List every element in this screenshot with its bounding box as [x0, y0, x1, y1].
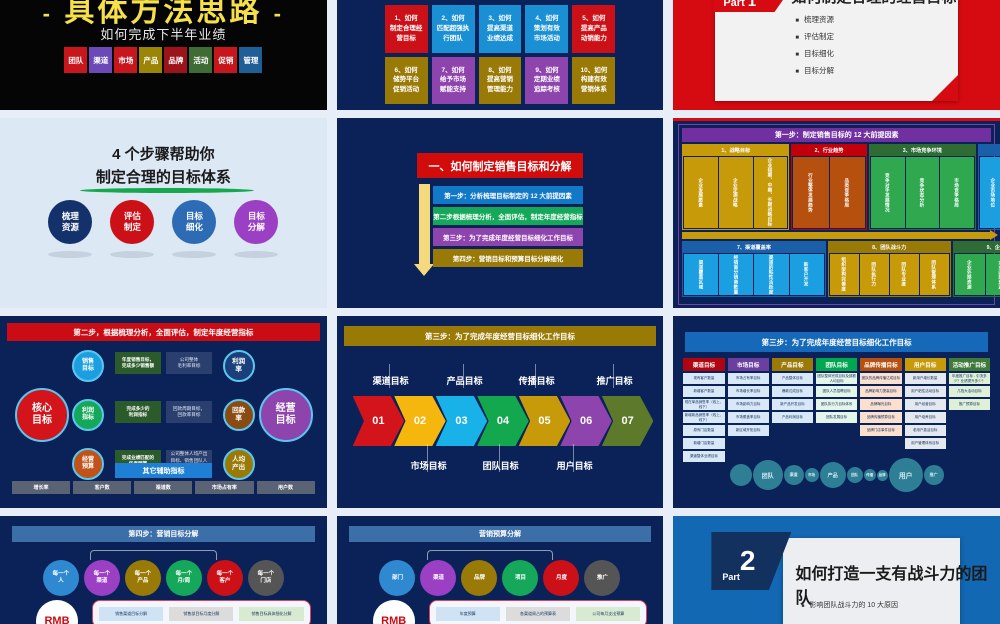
column-cell[interactable]: 老用户激活目标 — [905, 425, 946, 436]
rmb-badge: RMB — [36, 600, 78, 624]
breakdown-circle[interactable]: 品牌 — [461, 560, 497, 596]
factor-cell[interactable]: 经销商分销商数量 — [719, 254, 753, 295]
heading-line-2: 制定合理的目标体系 — [0, 167, 327, 190]
connector-tick — [613, 364, 614, 388]
column-cell[interactable]: 团队整体完成目标及部额人均目标 — [816, 373, 857, 384]
target-breakdown-title: 第四步：营销目标分解 — [12, 526, 315, 542]
factor-cell[interactable]: 竞争状态分析 — [906, 157, 940, 228]
part-one-bullet-item: 梳理资源 — [795, 14, 834, 25]
work-targets-columns: 渠道目标现有客户数量新增客户数量现在单品销售率（线上、线下）新增新品销售率（线上… — [683, 358, 990, 462]
target-column[interactable]: 渠道目标现有客户数量新增客户数量现在单品销售率（线上、线下）新增新品销售率（线上… — [683, 358, 724, 462]
column-cell[interactable]: 品牌门店事件目标 — [860, 425, 901, 436]
connector-tick — [427, 444, 428, 472]
panel-item[interactable]: 各渠道周占的预算表 — [506, 607, 570, 621]
column-cell[interactable]: 团队执行力目标体系 — [816, 399, 857, 410]
heading-line-1: 4 个步骤帮助你 — [0, 144, 327, 167]
slide-thumbnail-twelve-factors[interactable]: 第一步：制定销售目标的 12 大前提因素 1、战略目标企业发展愿景企业定测战略企… — [673, 118, 1000, 308]
question-box[interactable]: 4、如何策划有效市场活动 — [525, 5, 568, 53]
column-cell[interactable]: 用户经营目标 — [905, 399, 946, 410]
breakdown-circle[interactable]: 每一个渠道 — [84, 560, 120, 596]
target-column[interactable]: 活动推广目标年度推广目标 - 引流多少？业绩提升多少？几档大活动目标推广预算目标 — [949, 358, 990, 462]
column-header: 用户目标 — [905, 358, 946, 371]
category-bubble[interactable]: 渠道 — [784, 465, 804, 485]
target-column[interactable]: 市场目标市场占有率目标市场增长率目标市场影响力目标市场覆盖率目标新区域开拓目标 — [728, 358, 769, 462]
circle-shadow-row — [0, 251, 327, 258]
arrow-label-bottom: 市场目标 — [411, 459, 447, 472]
factor-group-header: 7、渠道覆盖率 — [683, 242, 824, 253]
right-metric-circle[interactable]: 人均产出 — [223, 448, 255, 480]
dash-right: - — [274, 1, 284, 26]
factor-cell[interactable]: 团队执行力 — [860, 254, 889, 295]
brace-connector — [427, 550, 554, 560]
step-row[interactable]: 第二步根据梳理分析，全面评估，制定年度经营指标 — [433, 207, 584, 225]
question-box[interactable]: 9、如何定期业绩追踪考核 — [525, 57, 568, 105]
factor-cell[interactable]: 团队管理体系 — [920, 254, 949, 295]
factor-cell[interactable]: 企业市场地位 — [980, 157, 1000, 228]
column-cell[interactable]: 新区域开拓目标 — [728, 425, 769, 436]
factor-group[interactable]: 3、市场竞争环境竞争对手发展情况竞争状态分析市场竞争格局 — [869, 144, 976, 230]
target-column[interactable]: 品牌传播目标团队的品牌传播达成目标品牌影响力提高目标品牌曝光目标品牌传播预算目标… — [860, 358, 901, 462]
factor-cell[interactable]: 团队专业度 — [890, 254, 919, 295]
factors-band-row2: 7、渠道覆盖率渠道覆盖区域经销商分销商数量渠道的粘性活跃度新客户开发8、团队战斗… — [682, 241, 991, 297]
column-cell[interactable]: 团队的品牌传播达成目标 — [860, 373, 901, 384]
brand-chip[interactable]: 促销 — [214, 47, 237, 73]
column-cell[interactable]: 爆款达成目标 — [772, 386, 813, 397]
factor-group-header: 3、市场竞争环境 — [870, 145, 975, 156]
breakdown-circle[interactable]: 部门 — [379, 560, 415, 596]
right-metric-circle[interactable]: 利润率 — [223, 350, 255, 382]
slide-thumbnail-four-steps[interactable]: 4 个步骤帮助你 制定合理的目标体系 梳理资源评估制定目标细化目标分解 — [0, 118, 327, 308]
column-cell[interactable]: 团队发展目标 — [816, 412, 857, 423]
breakdown-circle[interactable]: 每一个客户 — [207, 560, 243, 596]
column-cell[interactable]: 市场影响力目标 — [728, 399, 769, 410]
footer-indicator[interactable]: 渠道数 — [134, 481, 192, 494]
part-one-heading: 如何制定合理的经营目标 — [791, 0, 956, 7]
slide-thumbnail-part-two[interactable]: Part 2 如何打造一支有战斗力的团队 影响团队战斗力的 10 大原因 — [673, 516, 1000, 624]
brand-chip[interactable]: 管理 — [239, 47, 262, 73]
factor-group[interactable]: 4、市场地位企业市场地位市场占有率市场影响力 — [978, 144, 1000, 230]
step-circle[interactable]: 目标分解 — [234, 200, 278, 244]
step-row[interactable]: 第一步：分析梳理目标制定的 12 大前提因素 — [433, 186, 584, 204]
mid-target-circle[interactable]: 销售目标 — [72, 350, 104, 382]
column-header: 市场目标 — [728, 358, 769, 371]
question-box[interactable]: 10、如何构建有效营销体系 — [572, 57, 615, 105]
column-header: 团队目标 — [816, 358, 857, 371]
part-two-heading: 如何打造一支有战斗力的团队 — [795, 560, 1000, 608]
budget-circle-row: 部门渠道品牌项目月度推广 — [337, 560, 664, 596]
brand-chip[interactable]: 市场 — [114, 47, 137, 73]
column-cell[interactable]: 几档大活动目标 — [949, 386, 990, 397]
budget-breakdown-title: 营销预算分解 — [349, 526, 652, 542]
core-map-title: 第二步，根据梳理分析，全面评估，制定年度经营指标 — [7, 323, 320, 341]
question-box[interactable]: 6、如何储势平台促销活动 — [385, 57, 428, 105]
green-underline — [80, 188, 254, 193]
blue-detail-box: 公司整体毛利率目标 — [166, 352, 212, 374]
green-detail-box: 年度销售目标，完成多少销售额 — [115, 352, 161, 374]
mid-target-circle[interactable]: 经营预算 — [72, 448, 104, 480]
arrow-label-top: 渠道目标 — [373, 374, 409, 387]
column-cell[interactable]: 新产品开发目标 — [772, 399, 813, 410]
circle-shadow — [110, 251, 154, 258]
connector-tick — [389, 364, 390, 388]
factor-cell[interactable]: 竞争对手发展情况 — [871, 157, 905, 228]
target-column[interactable]: 团队目标团队整体完成目标及部额人均目标团队人员招聘目标团队执行力目标体系团队发展… — [816, 358, 857, 462]
slide1-subtitle: 如何完成下半年业绩 — [0, 24, 327, 43]
step-row-list: 第一步：分析梳理目标制定的 12 大前提因素第二步根据梳理分析，全面评估，制定年… — [433, 186, 584, 267]
part-one-bullet-item: 目标细化 — [795, 48, 834, 59]
column-cell[interactable]: 原有门店数量 — [683, 425, 724, 436]
breakdown-circle[interactable]: 项目 — [502, 560, 538, 596]
factor-group[interactable]: 8、团队战斗力组织架构完善度团队执行力团队专业度团队管理体系 — [828, 241, 951, 297]
footer-indicator[interactable]: 用户数 — [257, 481, 315, 494]
part-one-bullet-item: 评估制定 — [795, 31, 834, 42]
factor-group-header: 1、战略目标 — [683, 145, 788, 156]
step-circle[interactable]: 评估制定 — [110, 200, 154, 244]
part-label: Part — [722, 572, 740, 582]
factor-group-header: 4、市场地位 — [979, 145, 1000, 156]
slide-thumbnail-budget-breakdown[interactable]: 营销预算分解 部门渠道品牌项目月度推广 RMB 年度预算各渠道周占的预算表公司每… — [337, 516, 664, 624]
factor-cell[interactable]: 品类竞争格局 — [830, 157, 865, 228]
breakdown-panel: 销售渠道目标分解销售部目标月度分解销售目标具体细化分解 — [92, 600, 311, 624]
part-two-tag: Part 2 — [711, 532, 791, 590]
slide-thumbnail-target-breakdown[interactable]: 第四步：营销目标分解 每一个人每一个渠道每一个产品每一个月/周每一个客户每一个门… — [0, 516, 327, 624]
sales-steps-title: 一、如何制定销售目标和分解 — [417, 153, 584, 178]
brace-connector — [90, 550, 217, 560]
column-cell[interactable]: 用户培养目标 — [905, 412, 946, 423]
column-cell[interactable]: 市场覆盖率目标 — [728, 412, 769, 423]
arrow-label-bottom: 用户目标 — [557, 459, 593, 472]
breakdown-circle[interactable]: 每一个月/周 — [166, 560, 202, 596]
column-header: 活动推广目标 — [949, 358, 990, 371]
column-cell[interactable]: 团队人员招聘目标 — [816, 386, 857, 397]
factor-cell-row: 竞争对手发展情况竞争状态分析市场竞争格局 — [870, 156, 975, 229]
brand-chip[interactable]: 产品 — [139, 47, 162, 73]
circle-shadow — [172, 251, 216, 258]
blue-detail-box: 回款周期目标，回款率目标 — [166, 401, 212, 423]
category-bubble[interactable]: 产品 — [820, 462, 846, 488]
breakdown-circle[interactable]: 渠道 — [420, 560, 456, 596]
factor-cell[interactable]: 企业定测战略 — [719, 157, 753, 228]
arrow-label-top: 产品目标 — [447, 374, 483, 387]
question-box[interactable]: 1、如何制定合理经营目标 — [385, 5, 428, 53]
factor-cell-row: 行业整体发展趋势品类竞争格局 — [792, 156, 866, 229]
aux-indicator-bar: 其它辅助指标 — [115, 463, 212, 478]
chevron-arrow[interactable]: 01 — [353, 396, 405, 446]
question-box-grid: 1、如何制定合理经营目标2、如何匹配超强执行团队3、如何提高渠道业绩达成4、如何… — [385, 5, 616, 104]
part-number: 2 — [740, 547, 756, 575]
column-cell[interactable]: 新增门店数量 — [683, 438, 724, 449]
factor-cell-row: 企业发展愿景企业定测战略企业短期、中期、长期战略目标 — [683, 156, 788, 229]
slide-thumbnail-core-target-map[interactable]: 第二步，根据梳理分析，全面评估，制定年度经营指标 核心目标 经营目标 销售目标利… — [0, 316, 327, 508]
question-box[interactable]: 8、如何提高营销管理能力 — [479, 57, 522, 105]
factor-group[interactable]: 7、渠道覆盖率渠道覆盖区域经销商分销商数量渠道的粘性活跃度新客户开发 — [682, 241, 825, 297]
column-cell[interactable]: 推广预算目标 — [949, 399, 990, 410]
column-cell[interactable]: 现有客户数量 — [683, 373, 724, 384]
category-bubble[interactable] — [730, 464, 752, 486]
factor-cell-row: 企业外部资源企业内部资源企业核心资源 — [954, 253, 1000, 296]
column-cell[interactable]: 市场占有率目标 — [728, 373, 769, 384]
down-arrow-icon — [419, 184, 430, 264]
slide-thumbnail-title[interactable]: - 具体方法思路 - 如何完成下半年业绩 团队渠道市场产品品牌活动促销管理 — [0, 0, 327, 110]
step-circle-row: 梳理资源评估制定目标细化目标分解 — [0, 200, 327, 244]
part-one-bullet-item: 目标分解 — [795, 65, 834, 76]
question-box[interactable]: 3、如何提高渠道业绩达成 — [479, 5, 522, 53]
question-box[interactable]: 7、如何给予市场赋能支持 — [432, 57, 475, 105]
target-column[interactable]: 产品目标产品整体目标爆款达成目标新产品开发目标产品利润目标 — [772, 358, 813, 462]
factors-band-row1: 1、战略目标企业发展愿景企业定测战略企业短期、中期、长期战略目标2、行业趋势行业… — [682, 144, 991, 230]
green-detail-box: 完成多少的利润指标 — [115, 401, 161, 423]
circle-shadow — [234, 251, 278, 258]
circle-shadow — [48, 251, 92, 258]
factors-banner: 第一步：制定销售目标的 12 大前提因素 — [682, 128, 991, 142]
breakdown-circle[interactable]: 每一个门店 — [248, 560, 284, 596]
connector-tick — [463, 364, 464, 388]
brand-chip[interactable]: 渠道 — [89, 47, 112, 73]
footer-indicator[interactable]: 客户数 — [73, 481, 131, 494]
panel-item[interactable]: 销售目标具体细化分解 — [239, 607, 303, 621]
slide-thumbnail-part-one[interactable]: 如何制定合理的经营目标 Part 1 梳理资源评估制定目标细化目标分解 — [673, 0, 1000, 110]
question-box[interactable]: 2、如何匹配超强执行团队 — [432, 5, 475, 53]
column-header: 产品目标 — [772, 358, 813, 371]
factor-cell[interactable]: 组织架构完善度 — [830, 254, 859, 295]
slide-thumbnail-ten-questions[interactable]: 1、如何制定合理经营目标2、如何匹配超强执行团队3、如何提高渠道业绩达成4、如何… — [337, 0, 664, 110]
panel-item[interactable]: 销售渠道目标分解 — [99, 607, 163, 621]
dash-left: - — [43, 1, 53, 26]
category-bubble[interactable]: 团队 — [753, 460, 783, 490]
breakdown-circle[interactable]: 月度 — [543, 560, 579, 596]
factor-cell[interactable]: 渠道的粘性活跃度 — [754, 254, 788, 295]
mid-target-circle[interactable]: 利润指标 — [72, 399, 104, 431]
category-bubble[interactable]: 市场 — [805, 468, 819, 482]
factor-cell[interactable]: 企业短期、中期、长期战略目标 — [754, 157, 788, 228]
column-cell[interactable]: 品牌曝光目标 — [860, 399, 901, 410]
column-cell[interactable]: 品牌传播预算目标 — [860, 412, 901, 423]
brand-chip[interactable]: 活动 — [189, 47, 212, 73]
factor-cell-row: 渠道覆盖区域经销商分销商数量渠道的粘性活跃度新客户开发 — [683, 253, 824, 296]
factor-group-header: 2、行业趋势 — [792, 145, 866, 156]
bubble-chart-row: 团队渠道市场产品团队传播品牌用户推广 — [681, 452, 992, 498]
column-header: 渠道目标 — [683, 358, 724, 371]
panel-item[interactable]: 公司每月支出预算 — [576, 607, 640, 621]
four-steps-heading: 4 个步骤帮助你 制定合理的目标体系 — [0, 144, 327, 189]
breakdown-circle-row: 每一个人每一个渠道每一个产品每一个月/周每一个客户每一个门店 — [0, 560, 327, 596]
rmb-badge: RMB — [373, 600, 415, 624]
connector-tick — [535, 364, 536, 388]
column-cell[interactable]: 用户管理体系目标 — [905, 438, 946, 449]
category-bubble[interactable]: 推广 — [924, 465, 944, 485]
part-number: 1 — [748, 0, 756, 9]
factor-cell[interactable]: 企业外部资源 — [955, 254, 985, 295]
factor-cell[interactable]: 市场竞争格局 — [940, 157, 974, 228]
core-target-circle: 核心目标 — [15, 388, 69, 442]
factor-group-header: 9、企业资源 — [954, 242, 1000, 253]
part-one-bullets: 梳理资源评估制定目标细化目标分解 — [795, 14, 834, 82]
breakdown-circle[interactable]: 每一个产品 — [125, 560, 161, 596]
column-cell[interactable]: 年度推广目标 - 引流多少？业绩提升多少？ — [949, 373, 990, 384]
brand-chip[interactable]: 团队 — [64, 47, 87, 73]
factor-cell[interactable]: 渠道覆盖区域 — [684, 254, 718, 295]
slide-thumbnail-seven-arrows[interactable]: 第三步：为了完成年度经营目标细化工作目标 01020304050607 渠道目标… — [337, 316, 664, 508]
panel-item[interactable]: 销售部目标月度分解 — [169, 607, 233, 621]
factor-cell-row: 组织架构完善度团队执行力团队专业度团队管理体系 — [829, 253, 950, 296]
column-cell[interactable]: 产品整体目标 — [772, 373, 813, 384]
column-cell[interactable]: 现在单品销售率（线上、线下） — [683, 399, 724, 410]
column-cell[interactable]: 市场增长率目标 — [728, 386, 769, 397]
factor-group[interactable]: 1、战略目标企业发展愿景企业定测战略企业短期、中期、长期战略目标 — [682, 144, 789, 230]
column-cell[interactable]: 新用户增长数量 — [905, 373, 946, 384]
column-cell[interactable]: 品牌影响力提高目标 — [860, 386, 901, 397]
factor-cell[interactable]: 行业整体发展趋势 — [793, 157, 828, 228]
factor-group[interactable]: 9、企业资源企业外部资源企业内部资源企业核心资源 — [953, 241, 1000, 297]
column-cell[interactable]: 产品利润目标 — [772, 412, 813, 423]
question-box[interactable]: 5、如何提高产品动销能力 — [572, 5, 615, 53]
category-bubble[interactable]: 传播 — [864, 469, 876, 481]
footer-indicator[interactable]: 市场占有率 — [195, 481, 253, 494]
business-target-circle: 经营目标 — [259, 388, 313, 442]
factor-cell[interactable]: 企业发展愿景 — [684, 157, 718, 228]
right-metric-circle[interactable]: 回款率 — [223, 399, 255, 431]
target-column[interactable]: 用户目标新用户增长数量用户粘性活动目标用户经营目标用户培养目标老用户激活目标用户… — [905, 358, 946, 462]
step-circle[interactable]: 目标细化 — [172, 200, 216, 244]
breakdown-circle[interactable]: 每一个人 — [43, 560, 79, 596]
category-bubble[interactable]: 用户 — [889, 458, 923, 492]
factor-cell-row: 企业市场地位市场占有率市场影响力 — [979, 156, 1000, 229]
slide-thumbnail-work-targets-table[interactable]: 第三步：为了完成年度经营目标细化工作目标 渠道目标现有客户数量新增客户数量现在单… — [673, 316, 1000, 508]
brand-chip[interactable]: 品牌 — [164, 47, 187, 73]
step-row[interactable]: 第四步：营销目标和预算目标分解细化 — [433, 249, 584, 267]
arrow-chevron-row: 01020304050607 — [353, 396, 654, 446]
connector-tick — [499, 444, 500, 472]
factor-cell[interactable]: 企业内部资源 — [986, 254, 1000, 295]
connector-tick — [573, 444, 574, 472]
part-label: Part — [723, 0, 744, 9]
progress-arrow-icon — [682, 232, 991, 239]
step-row[interactable]: 第三步：为了完成年度经营目标细化工作目标 — [433, 228, 584, 246]
category-bubble[interactable]: 团队 — [847, 467, 863, 483]
budget-panel: 年度预算各渠道周占的预算表公司每月支出预算 — [429, 600, 648, 624]
factor-group-header: 8、团队战斗力 — [829, 242, 950, 253]
step-circle[interactable]: 梳理资源 — [48, 200, 92, 244]
breakdown-circle[interactable]: 推广 — [584, 560, 620, 596]
work-targets-title: 第三步：为了完成年度经营目标细化工作目标 — [685, 332, 988, 352]
factor-cell[interactable]: 新客户开发 — [790, 254, 824, 295]
slide-thumbnail-sales-steps[interactable]: 一、如何制定销售目标和分解 第一步：分析梳理目标制定的 12 大前提因素第二步根… — [337, 118, 664, 308]
footer-indicator[interactable]: 增长率 — [12, 481, 70, 494]
factors-frame: 第一步：制定销售目标的 12 大前提因素 1、战略目标企业发展愿景企业定测战略企… — [678, 124, 995, 305]
footer-indicator-row: 增长率客户数渠道数市场占有率用户数 — [12, 481, 315, 494]
column-cell[interactable]: 用户粘性活动目标 — [905, 386, 946, 397]
arrows-title: 第三步：为了完成年度经营目标细化工作目标 — [344, 326, 657, 346]
section-card — [715, 0, 958, 101]
column-header: 品牌传播目标 — [860, 358, 901, 371]
category-bubble[interactable]: 品牌 — [877, 470, 888, 481]
column-cell[interactable]: 新增新品销售率（线上、线下） — [683, 412, 724, 423]
panel-item[interactable]: 年度预算 — [436, 607, 500, 621]
slide1-chip-row: 团队渠道市场产品品牌活动促销管理 — [0, 47, 327, 73]
arrow-label-top: 传播目标 — [519, 374, 555, 387]
column-cell[interactable]: 新增客户数量 — [683, 386, 724, 397]
arrow-label-bottom: 团队目标 — [483, 459, 519, 472]
arrow-label-top: 推广目标 — [597, 374, 633, 387]
slide-deck-grid: - 具体方法思路 - 如何完成下半年业绩 团队渠道市场产品品牌活动促销管理 1、… — [0, 0, 1000, 600]
factor-group[interactable]: 2、行业趋势行业整体发展趋势品类竞争格局 — [791, 144, 867, 230]
